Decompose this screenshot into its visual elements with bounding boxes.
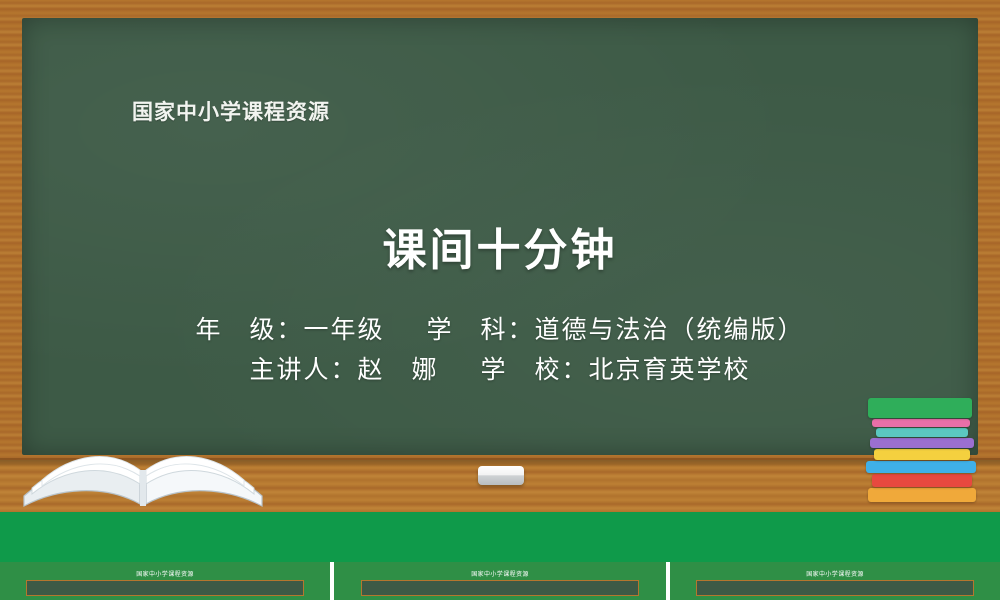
school-label: 学 校： (481, 356, 589, 384)
blackboard-wooden-frame: 国家中小学课程资源 课间十分钟 年 级：一年级学 科：道德与法治（统编版） 主讲… (0, 0, 1000, 512)
thumbnail-board (26, 580, 303, 596)
thumbnail-slide-2[interactable]: 国家中小学课程资源 (334, 562, 666, 600)
subject-value: 道德与法治（统编版） (535, 316, 805, 344)
meta-row-teacher: 主讲人：赵 娜学 校：北京育英学校 (22, 350, 978, 390)
teacher-value: 赵 娜 (357, 356, 438, 384)
school-value: 北京育英学校 (589, 356, 751, 384)
eraser-icon (478, 466, 524, 485)
brand-text: 国家中小学课程资源 (132, 96, 330, 126)
thumbnail-label: 国家中小学课程资源 (670, 569, 1000, 578)
grade-label: 年 级： (195, 316, 303, 344)
meta-row-grade: 年 级：一年级学 科：道德与法治（统编版） (22, 310, 978, 350)
lesson-meta-block: 年 级：一年级学 科：道德与法治（统编版） 主讲人：赵 娜学 校：北京育英学校 (22, 310, 978, 390)
open-book-icon (18, 404, 268, 512)
grade-value: 一年级 (303, 316, 384, 344)
thumbnail-label: 国家中小学课程资源 (334, 569, 666, 578)
slide-canvas: 国家中小学课程资源 课间十分钟 年 级：一年级学 科：道德与法治（统编版） 主讲… (0, 0, 1000, 600)
teacher-label: 主讲人： (249, 356, 357, 384)
thumbnail-board (696, 580, 973, 596)
book-stack-icon (862, 392, 982, 512)
thumbnail-board (361, 580, 640, 596)
blackboard-surface: 国家中小学课程资源 课间十分钟 年 级：一年级学 科：道德与法治（统编版） 主讲… (22, 18, 978, 455)
page-title: 课间十分钟 (22, 214, 978, 278)
thumbnail-slide-3[interactable]: 国家中小学课程资源 (670, 562, 1000, 600)
slide-thumbnail-strip[interactable]: 国家中小学课程资源 国家中小学课程资源 国家中小学课程资源 (0, 562, 1000, 600)
thumbnail-slide-1[interactable]: 国家中小学课程资源 (0, 562, 330, 600)
footer-band (0, 512, 1000, 562)
subject-label: 学 科： (427, 316, 535, 344)
thumbnail-label: 国家中小学课程资源 (0, 569, 330, 578)
